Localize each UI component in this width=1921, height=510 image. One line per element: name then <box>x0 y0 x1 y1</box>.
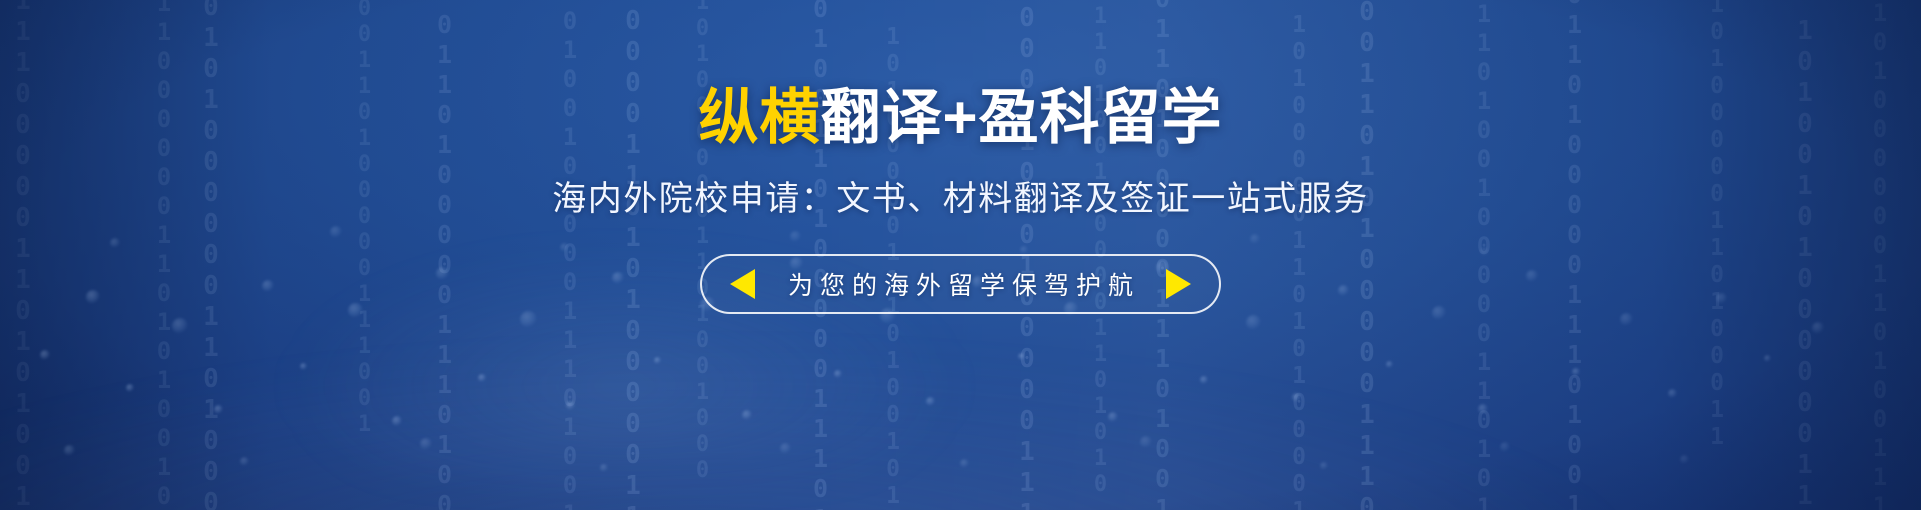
cta-button-label: 为您的海外留学保驾护航 <box>781 266 1140 302</box>
arrow-right-icon <box>1166 269 1191 299</box>
headline-brand: 纵横 <box>698 84 820 151</box>
headline-rest: 翻译+盈科留学 <box>820 84 1222 151</box>
arrow-left-icon <box>730 269 755 299</box>
banner-subtitle: 海内外院校申请：文书、材料翻译及签证一站式服务 <box>552 171 1369 220</box>
cta-button[interactable]: 为您的海外留学保驾护航 <box>700 254 1221 314</box>
banner-headline: 纵横翻译+盈科留学 <box>698 86 1222 151</box>
promo-banner: 1110000011010100111100000011010100100010… <box>0 0 1921 510</box>
banner-content: 纵横翻译+盈科留学 海内外院校申请：文书、材料翻译及签证一站式服务 为您的海外留… <box>0 0 1921 510</box>
